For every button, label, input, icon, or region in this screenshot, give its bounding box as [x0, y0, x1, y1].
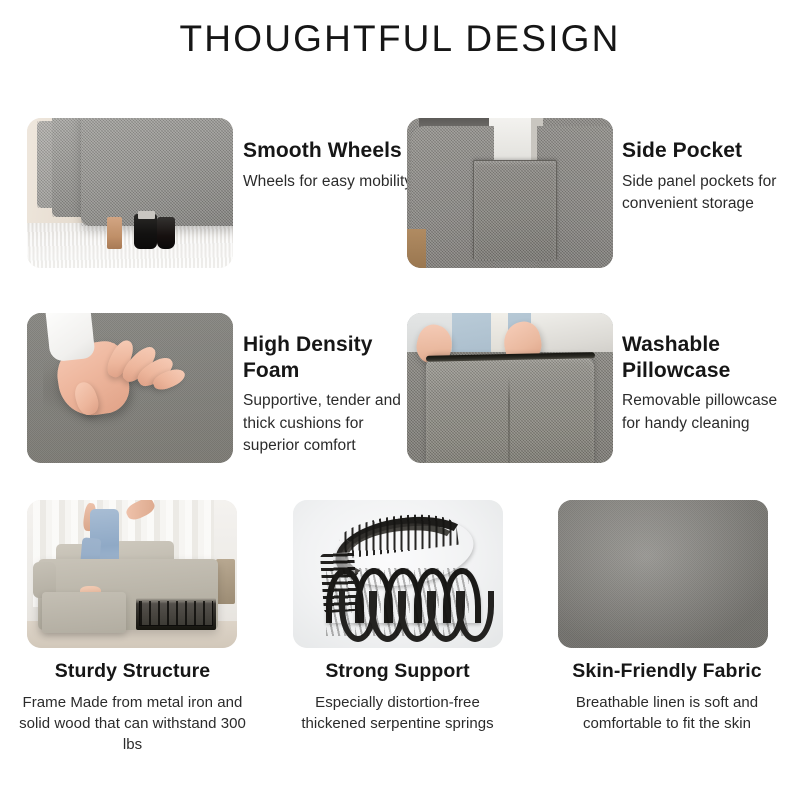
caster-wheel-second — [157, 217, 176, 249]
center-seam — [508, 376, 510, 463]
wooden-leg — [107, 217, 121, 249]
feature-heading: Sturdy Structure — [15, 660, 250, 684]
feature-image-side-pocket — [407, 118, 613, 268]
storage-pocket — [473, 160, 557, 260]
infographic-page: THOUGHTFUL DESIGN Smooth Wheels Wheels f… — [0, 0, 800, 800]
feature-text-washable-pillowcase: Washable Pillowcase Removable pillowcase… — [622, 332, 780, 435]
feature-heading: Strong Support — [285, 660, 510, 684]
side-table — [216, 559, 235, 603]
feature-heading: Skin-Friendly Fabric — [552, 660, 782, 684]
wheel-bracket — [138, 211, 154, 219]
feature-heading: Smooth Wheels — [243, 138, 413, 164]
feature-heading: Washable Pillowcase — [622, 332, 780, 383]
feature-body: Frame Made from metal iron and solid woo… — [15, 692, 250, 756]
feature-image-washable-pillowcase — [407, 313, 613, 463]
white-sleeve — [45, 313, 95, 362]
feature-text-high-density-foam: High Density Foam Supportive, tender and… — [243, 332, 413, 458]
feature-text-smooth-wheels: Smooth Wheels Wheels for easy mobility — [243, 138, 413, 193]
feature-image-skin-friendly-fabric — [558, 500, 768, 648]
white-carpet — [27, 223, 233, 268]
caster-wheel — [134, 214, 157, 249]
feature-heading: Side Pocket — [622, 138, 780, 164]
metal-frame-mechanism — [136, 598, 216, 631]
serpentine-spring-row — [322, 568, 494, 636]
feature-body: Wheels for easy mobility — [243, 171, 413, 193]
feature-text-skin-friendly-fabric: Skin-Friendly Fabric Breathable linen is… — [552, 660, 782, 734]
feature-image-sturdy-structure — [27, 500, 237, 648]
feature-text-side-pocket: Side Pocket Side panel pockets for conve… — [622, 138, 780, 216]
page-title: THOUGHTFUL DESIGN — [0, 18, 800, 60]
ottoman-section — [42, 592, 126, 633]
feature-text-strong-support: Strong Support Especially distortion-fre… — [285, 660, 510, 734]
feature-image-smooth-wheels — [27, 118, 233, 268]
feature-image-strong-support — [293, 500, 503, 648]
feature-body: Especially distortion-free thickened ser… — [285, 692, 510, 735]
feature-body: Breathable linen is soft and comfortable… — [552, 692, 782, 735]
fabric-lighting — [558, 500, 768, 648]
feature-image-high-density-foam — [27, 313, 233, 463]
sofa-body — [81, 118, 233, 226]
feature-body: Supportive, tender and thick cushions fo… — [243, 390, 413, 457]
feature-body: Side panel pockets for convenient storag… — [622, 171, 780, 216]
feature-text-sturdy-structure: Sturdy Structure Frame Made from metal i… — [15, 660, 250, 756]
feature-body: Removable pillowcase for handy cleaning — [622, 390, 780, 435]
feature-heading: High Density Foam — [243, 332, 413, 383]
wooden-floor-corner — [407, 229, 426, 268]
